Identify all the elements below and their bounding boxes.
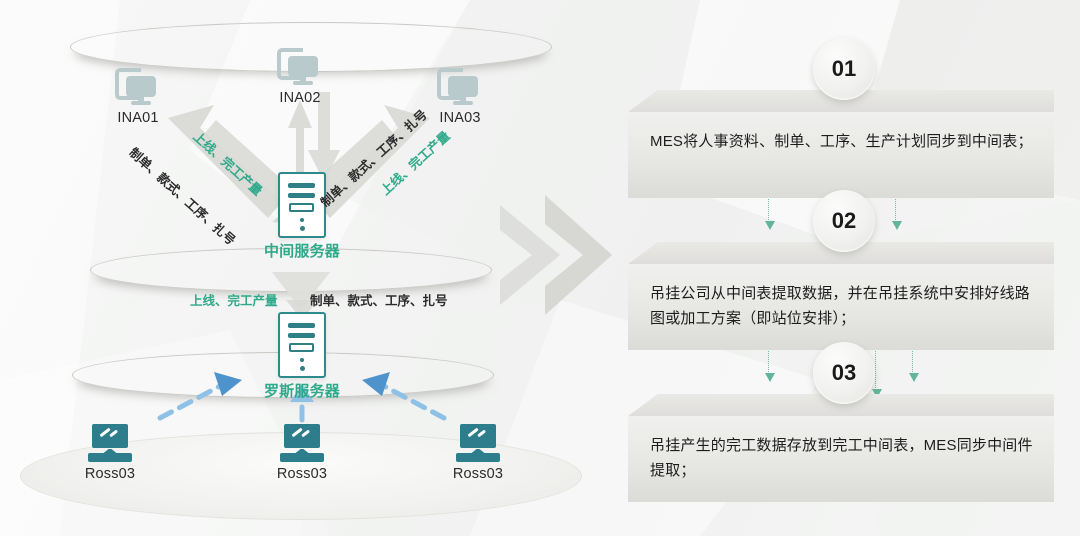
- computer-icon: [437, 68, 483, 108]
- node-label-ross03-a: Ross03: [60, 466, 160, 482]
- node-label-ross03-b: Ross03: [252, 466, 352, 482]
- step-card-body: MES将人事资料、制单、工序、生产计划同步到中间表；: [628, 112, 1054, 198]
- computer-icon: [115, 68, 161, 108]
- connector-arrow-right-1: [895, 196, 897, 222]
- terminal-icon: [88, 424, 132, 464]
- terminal-icon: [456, 424, 500, 464]
- server-tower-icon: [278, 172, 326, 238]
- node-label-ross03-c: Ross03: [428, 466, 528, 482]
- node-label-ross-server: 罗斯服务器: [250, 380, 354, 401]
- step-text-03: 吊挂产生的完工数据存放到完工中间表，MES同步中间件提取；: [650, 433, 1036, 483]
- node-ina01[interactable]: INA01: [88, 68, 188, 126]
- node-ross03-b[interactable]: Ross03: [252, 424, 352, 482]
- step-text-01: MES将人事资料、制单、工序、生产计划同步到中间表；: [650, 129, 1036, 154]
- computer-icon: [277, 48, 323, 88]
- step-card-body: 吊挂产生的完工数据存放到完工中间表，MES同步中间件提取；: [628, 416, 1054, 502]
- slide-canvas: INA01 INA02 INA03 中间服务器: [0, 0, 1080, 536]
- server-tower-icon: [278, 312, 326, 378]
- step-badge-01: 01: [813, 38, 875, 100]
- step-card-02[interactable]: 吊挂公司从中间表提取数据，并在吊挂系统中安排好线路图或加工方案（即站位安排）；: [628, 242, 1054, 350]
- step-card-03[interactable]: 吊挂产生的完工数据存放到完工中间表，MES同步中间件提取；: [628, 394, 1054, 502]
- step-badge-02: 02: [813, 190, 875, 252]
- connector-arrow-left-2: [768, 348, 770, 374]
- node-label-middle-server: 中间服务器: [250, 240, 354, 261]
- architecture-diagram: INA01 INA02 INA03 中间服务器: [0, 0, 600, 536]
- step-text-02: 吊挂公司从中间表提取数据，并在吊挂系统中安排好线路图或加工方案（即站位安排）；: [650, 281, 1036, 331]
- step-card-body: 吊挂公司从中间表提取数据，并在吊挂系统中安排好线路图或加工方案（即站位安排）；: [628, 264, 1054, 350]
- connector-arrow-left-1: [768, 196, 770, 222]
- step-badge-03: 03: [813, 342, 875, 404]
- node-ross-server[interactable]: 罗斯服务器: [250, 312, 354, 401]
- node-ross03-c[interactable]: Ross03: [428, 424, 528, 482]
- connector-arrow-right-2: [912, 348, 914, 374]
- node-label-ina01: INA01: [88, 110, 188, 126]
- steps-panel: 01 MES将人事资料、制单、工序、生产计划同步到中间表； 02 吊挂公司从中间…: [600, 0, 1080, 536]
- connector-arrow-mid-2: [875, 348, 877, 390]
- flow-label-mid-up: 上线、完工产量: [190, 290, 278, 309]
- node-ina02[interactable]: INA02: [250, 48, 350, 106]
- terminal-icon: [280, 424, 324, 464]
- step-card-01[interactable]: MES将人事资料、制单、工序、生产计划同步到中间表；: [628, 90, 1054, 198]
- node-ross03-a[interactable]: Ross03: [60, 424, 160, 482]
- node-label-ina02: INA02: [250, 90, 350, 106]
- flow-label-mid-down: 制单、款式、工序、扎号: [310, 290, 448, 309]
- flow-label-left-up: 上线、完工产量: [190, 126, 268, 199]
